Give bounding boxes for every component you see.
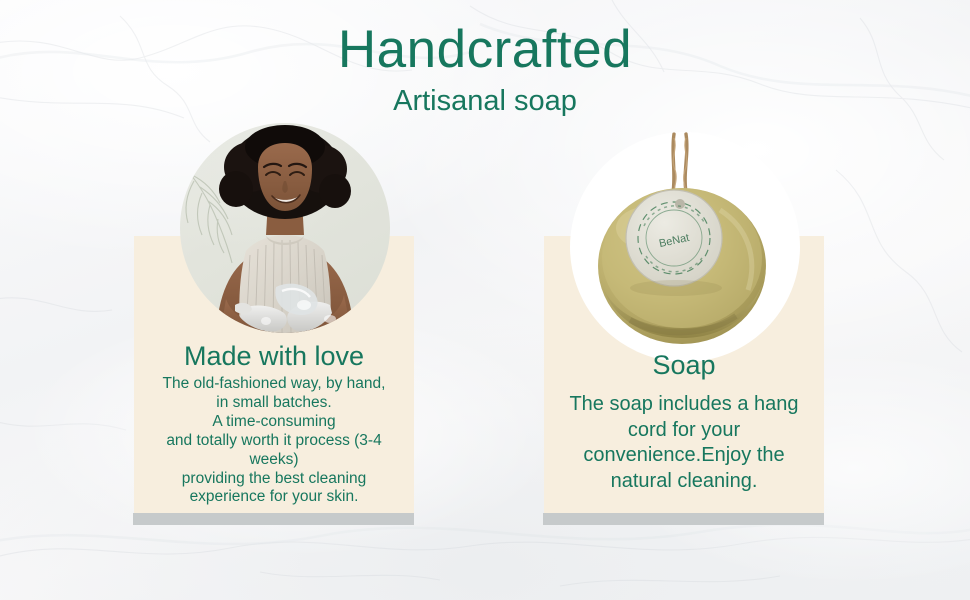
soap-bar-figure: BeNat xyxy=(570,132,800,362)
card-heading-right: Soap xyxy=(544,350,824,381)
hanging-soap-bar-photo: BeNat xyxy=(570,132,800,362)
page-title: Handcrafted xyxy=(0,22,970,78)
card-body-left: The old-fashioned way, by hand, in small… xyxy=(144,375,404,507)
banner-header: Handcrafted Artisanal soap xyxy=(0,22,970,118)
card-shadow-left xyxy=(133,513,414,525)
woman-making-soap-photo xyxy=(180,123,390,333)
woman-figure xyxy=(180,123,390,333)
card-body-right: The soap includes a hang cord for your c… xyxy=(564,392,804,494)
promo-banner: Handcrafted Artisanal soap xyxy=(0,0,970,600)
page-subtitle: Artisanal soap xyxy=(0,84,970,119)
card-shadow-right xyxy=(543,513,824,525)
card-heading-left: Made with love xyxy=(134,341,414,372)
